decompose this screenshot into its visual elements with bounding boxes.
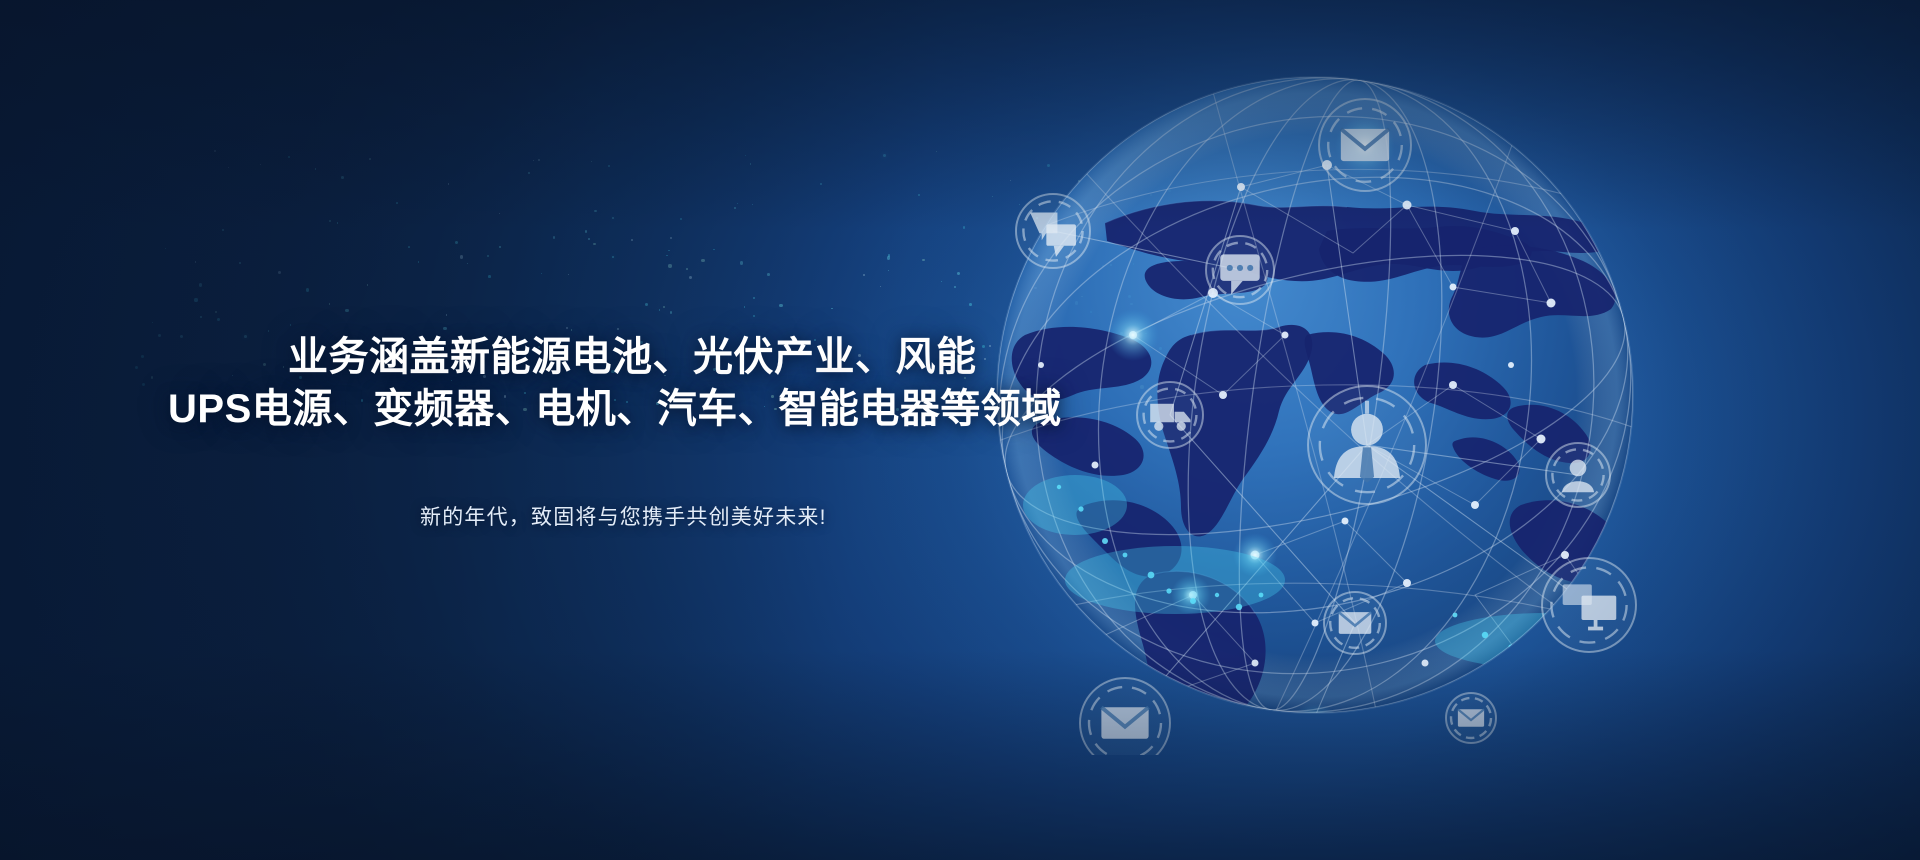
headline-line-1: 业务涵盖新能源电池、光伏产业、风能	[288, 333, 977, 381]
hero-banner: 业务涵盖新能源电池、光伏产业、风能 UPS电源、变频器、电机、汽车、智能电器等领…	[0, 0, 1920, 860]
banner-subtitle: 新的年代，致固将与您携手共创美好未来!	[420, 503, 827, 533]
background-top-fade	[0, 0, 1920, 230]
background-bottom-fade	[0, 650, 1920, 860]
headline-line-2: UPS电源、变频器、电机、汽车、智能电器等领域	[168, 385, 1062, 433]
